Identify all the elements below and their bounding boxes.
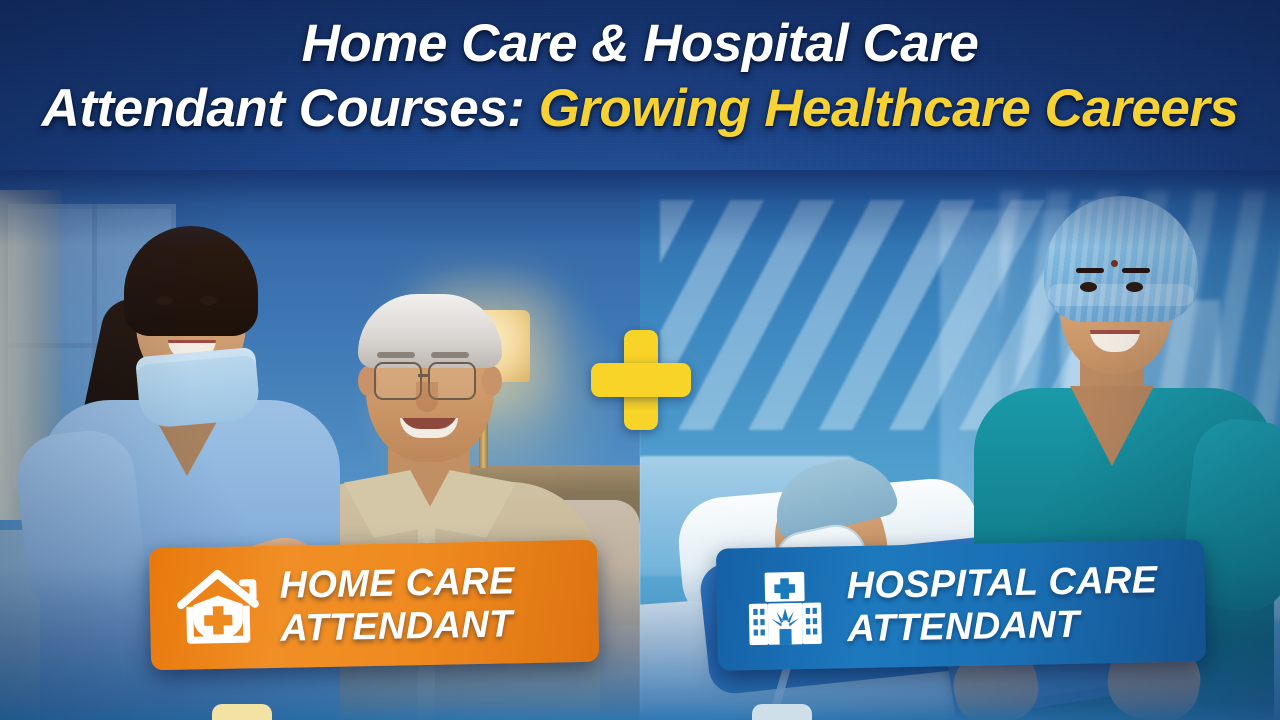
hospital-care-badge[interactable]: HOSPITAL CARE ATTENDANT — [716, 539, 1206, 670]
plus-horizontal-bar — [591, 363, 691, 397]
thumbnail-canvas: Home Care & Hospital Care Attendant Cour… — [0, 0, 1280, 720]
home-care-badge[interactable]: HOME CARE ATTENDANT — [149, 540, 599, 671]
bottom-peek-icon-left — [212, 704, 282, 720]
plus-icon — [591, 330, 691, 430]
hospital-building-icon — [738, 562, 832, 656]
bottom-peek-icon-right — [752, 704, 822, 720]
home-care-badge-text: HOME CARE ATTENDANT — [279, 562, 515, 647]
peek-shape — [212, 704, 272, 720]
home-care-badge-line-1: HOME CARE — [279, 562, 515, 605]
peek-shape — [752, 704, 812, 720]
home-care-badge-line-2: ATTENDANT — [280, 605, 516, 648]
hospital-care-badge-line-2: ATTENDANT — [847, 604, 1158, 648]
house-with-medical-cross-icon — [171, 561, 265, 655]
hospital-care-badge-text: HOSPITAL CARE ATTENDANT — [846, 561, 1158, 648]
hospital-care-badge-line-1: HOSPITAL CARE — [846, 561, 1157, 605]
